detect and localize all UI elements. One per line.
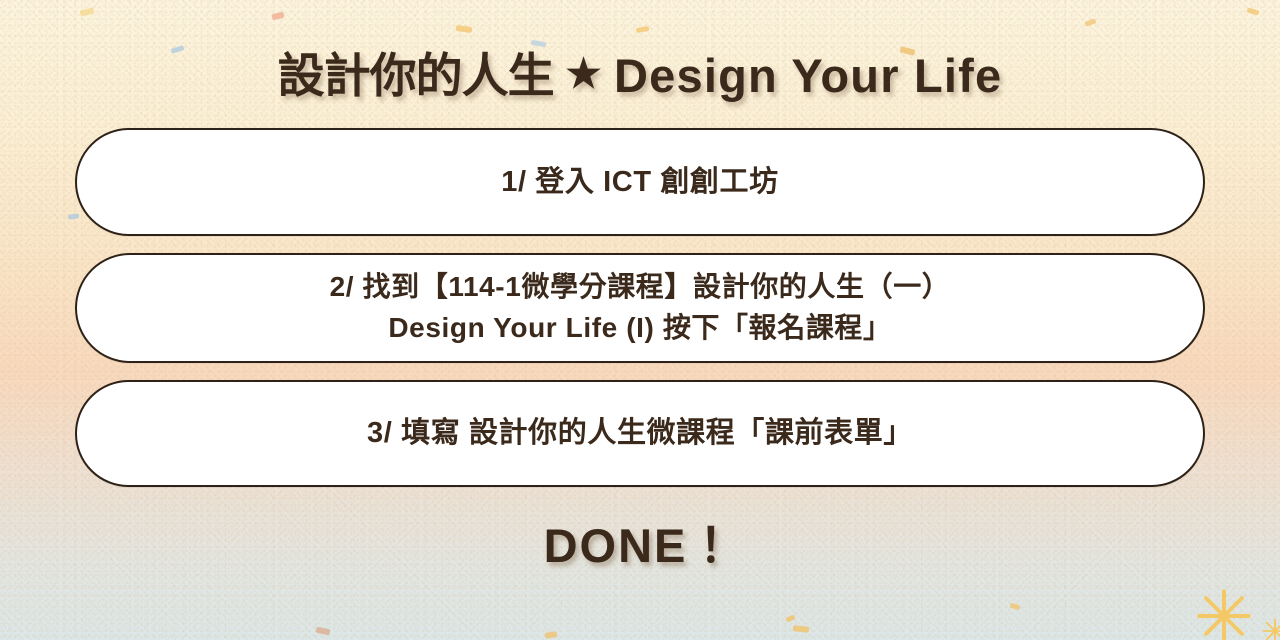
page-title: 設計你的人生 ★ Design Your Life [278,52,1003,99]
star-icon: ★ [566,54,602,94]
page-title-en: Design Your Life [614,52,1002,99]
page-title-zh: 設計你的人生 [278,52,554,99]
step-card-3-line-1: 3/ 填寫 設計你的人生微課程「課前表單」 [367,412,913,454]
done-label: DONE！ [544,522,737,569]
step-card-1[interactable]: 1/ 登入 ICT 創創工坊 [75,128,1205,236]
step-card-2-line-2: Design Your Life (I) 按下「報名課程」 [330,308,951,349]
step-card-3[interactable]: 3/ 填寫 設計你的人生微課程「課前表單」 [75,380,1205,487]
steps-list: 1/ 登入 ICT 創創工坊 2/ 找到【114-1微學分課程】設計你的人生（一… [75,128,1205,487]
step-card-2[interactable]: 2/ 找到【114-1微學分課程】設計你的人生（一） Design Your L… [75,253,1205,363]
step-card-1-line-1: 1/ 登入 ICT 創創工坊 [501,161,778,203]
slide-stage: 設計你的人生 ★ Design Your Life 1/ 登入 ICT 創創工坊… [0,0,1280,640]
step-card-2-line-1: 2/ 找到【114-1微學分課程】設計你的人生（一） [330,267,951,308]
